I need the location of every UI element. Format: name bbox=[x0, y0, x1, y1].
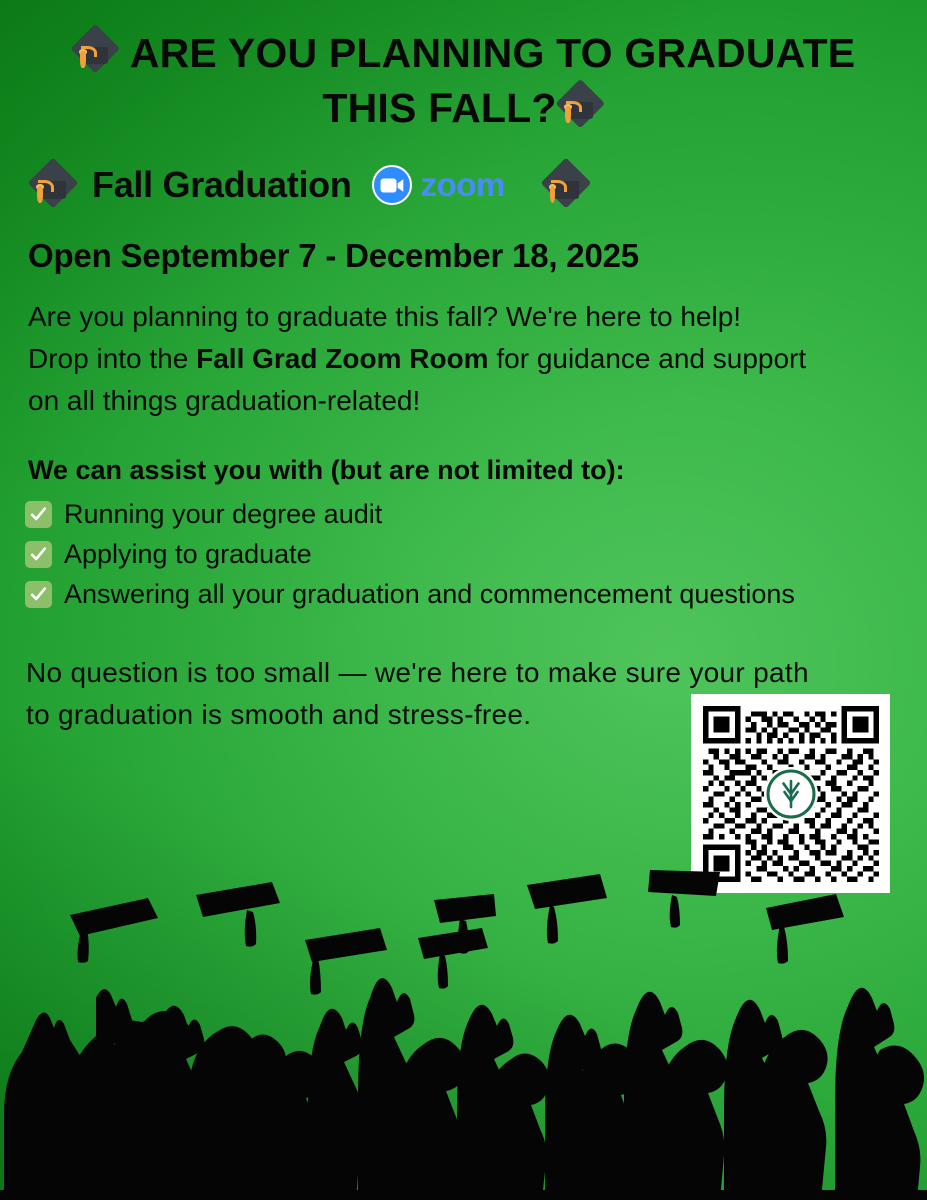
intro-line-2-pre: Drop into the bbox=[28, 343, 196, 374]
graduation-cap-icon bbox=[541, 160, 591, 210]
list-item: Running your degree audit bbox=[25, 494, 905, 534]
check-icon bbox=[25, 541, 52, 568]
thrown-caps bbox=[70, 870, 844, 995]
intro-line-1: Are you planning to graduate this fall? … bbox=[28, 296, 903, 338]
assist-heading: We can assist you with (but are not limi… bbox=[28, 455, 625, 486]
list-item-label: Applying to graduate bbox=[64, 538, 312, 570]
page-title-line-2: THIS FALL? bbox=[322, 85, 556, 131]
graduation-cap-icon bbox=[557, 81, 605, 129]
graduates-silhouette bbox=[0, 870, 927, 1200]
headline-row: Fall Graduation zoom bbox=[28, 160, 591, 210]
qr-code-matrix bbox=[703, 706, 879, 882]
list-item-label: Running your degree audit bbox=[64, 498, 382, 530]
page-title-line-1: ARE YOU PLANNING TO GRADUATE bbox=[130, 30, 855, 76]
list-item: Answering all your graduation and commen… bbox=[25, 574, 905, 614]
check-icon bbox=[25, 581, 52, 608]
qr-code[interactable] bbox=[691, 694, 890, 893]
list-item: Applying to graduate bbox=[25, 534, 905, 574]
intro-line-2: Drop into the Fall Grad Zoom Room for gu… bbox=[28, 338, 903, 380]
sprout-logo-icon bbox=[764, 767, 818, 821]
outro-line-1: No question is too small — we're here to… bbox=[26, 652, 906, 694]
intro-line-2-post: for guidance and support bbox=[489, 343, 807, 374]
zoom-logo: zoom bbox=[372, 165, 505, 205]
zoom-room-name: Fall Grad Zoom Room bbox=[196, 343, 488, 374]
intro-paragraph: Are you planning to graduate this fall? … bbox=[28, 296, 903, 422]
list-item-label: Answering all your graduation and commen… bbox=[64, 578, 795, 610]
zoom-wordmark: zoom bbox=[421, 166, 505, 204]
headline-text: Fall Graduation bbox=[92, 164, 352, 206]
date-range: Open September 7 - December 18, 2025 bbox=[28, 237, 639, 275]
graduation-cap-icon bbox=[28, 160, 78, 210]
check-icon bbox=[25, 501, 52, 528]
zoom-camera-icon bbox=[372, 165, 412, 205]
graduation-cap-icon bbox=[72, 26, 120, 74]
assist-checklist: Running your degree audit Applying to gr… bbox=[25, 494, 905, 614]
graduation-flyer: ARE YOU PLANNING TO GRADUATE THIS FALL? … bbox=[0, 0, 927, 1200]
page-title: ARE YOU PLANNING TO GRADUATE THIS FALL? bbox=[0, 26, 927, 136]
intro-line-3: on all things graduation-related! bbox=[28, 380, 903, 422]
